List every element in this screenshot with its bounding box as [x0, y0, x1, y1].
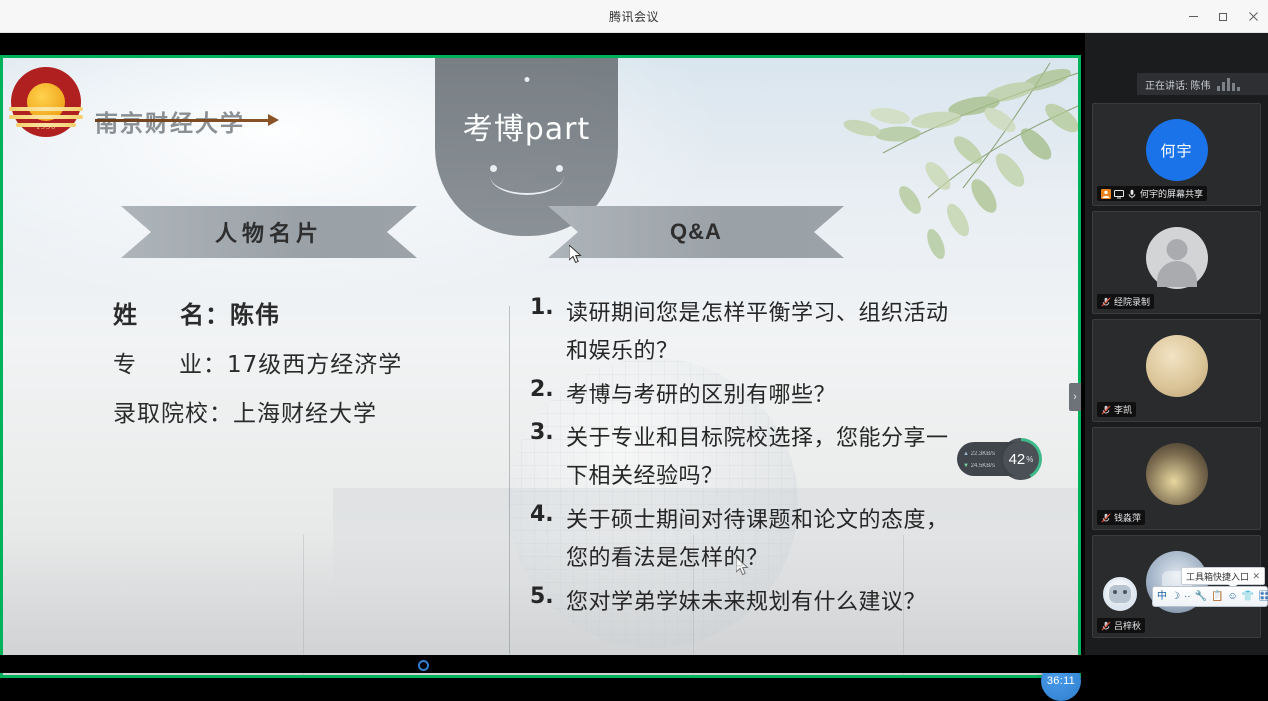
window-title-bar: 腾讯会议	[0, 0, 1268, 33]
profile-value: 17级西方经济学	[227, 345, 402, 379]
profile-label-2: 业：	[179, 345, 227, 379]
ime-fullwidth-icon[interactable]: ··	[1184, 592, 1191, 602]
ime-tooltip-text: 工具箱快捷入口	[1186, 570, 1249, 583]
timer-value: 36:11	[1047, 675, 1075, 687]
profile-label: 姓	[113, 295, 138, 330]
participant-name: 吕梓秋	[1114, 619, 1141, 632]
mic-muted-icon	[1101, 297, 1111, 307]
logo-year: 1956	[11, 122, 81, 131]
download-unit: KB/s	[982, 463, 995, 469]
participant-namebar: 吕梓秋	[1097, 618, 1145, 633]
cpu-usage-inner: 42 %	[1003, 441, 1039, 477]
participant-name: 何宇的屏幕共享	[1140, 187, 1203, 200]
ime-logo-icon[interactable]	[1103, 577, 1137, 611]
ime-toolbar[interactable]: 中 ☽ ·· 🔧 📋 ☺ 👕 🎛 🔒	[1152, 586, 1268, 607]
upload-value: 22.3	[971, 451, 983, 457]
screen-share-icon	[1114, 189, 1124, 199]
logo-wave	[9, 115, 83, 119]
avatar: 何宇	[1146, 119, 1208, 181]
close-icon	[1248, 11, 1259, 22]
mic-muted-icon	[1101, 621, 1111, 631]
profile-row-major: 专 业： 17级西方经济学	[113, 345, 503, 379]
smile-eye-left	[490, 165, 497, 172]
participant-name: 李凯	[1114, 403, 1132, 416]
profile-label-2: 名：	[180, 295, 230, 330]
arrow-icon	[95, 119, 270, 122]
question-text: 您对学弟学妹未来规划有什么建议？	[566, 584, 926, 622]
shared-screen-frame: 1956 南京财经大学 考博part	[0, 55, 1081, 678]
smile-icon	[490, 157, 564, 195]
ime-tooltip: 工具箱快捷入口 ✕	[1181, 567, 1265, 585]
ime-clipboard-icon[interactable]: 📋	[1211, 592, 1223, 602]
ime-face-icon	[1109, 585, 1131, 603]
question-number: 5.	[530, 584, 566, 622]
presentation-slide: 1956 南京财经大学 考博part	[3, 58, 1078, 675]
ime-toolbox-icon[interactable]: 🎛	[1258, 592, 1268, 602]
mic-muted-icon	[1101, 405, 1111, 415]
network-speed-lines: 22.3KB/s 24.5KB/s	[963, 447, 995, 470]
vertical-divider	[509, 306, 510, 654]
download-speed: 24.5KB/s	[963, 459, 995, 471]
question-item: 5. 您对学弟学妹未来规划有什么建议？	[530, 584, 960, 622]
avatar	[1146, 335, 1208, 397]
avatar	[1146, 227, 1208, 289]
cpu-usage-ring[interactable]: 42 %	[1000, 438, 1042, 480]
participant-namebar: 何宇的屏幕共享	[1097, 186, 1207, 201]
upload-speed: 22.3KB/s	[963, 447, 995, 459]
active-speaker-label: 正在讲话: 陈伟	[1145, 77, 1211, 92]
close-button[interactable]	[1238, 0, 1268, 33]
participant-namebar: 李凯	[1097, 402, 1136, 417]
question-number: 4.	[530, 502, 566, 578]
ground-line	[303, 535, 304, 675]
participant-name: 经院录制	[1114, 295, 1150, 308]
participant-tile[interactable]: 经院录制	[1092, 211, 1261, 314]
upload-unit: KB/s	[982, 451, 995, 457]
ribbon-qa: Q&A	[548, 206, 844, 258]
profile-block: 姓 名： 陈伟 专 业： 17级西方经济学 录取院校： 上海财经大学	[113, 295, 503, 443]
question-text: 读研期间您是怎样平衡学习、组织活动和娱乐的？	[566, 295, 960, 371]
audio-level-icon	[1217, 78, 1240, 91]
participant-namebar: 钱淼萍	[1097, 510, 1145, 525]
mic-muted-icon	[1101, 513, 1111, 523]
download-value: 24.5	[971, 463, 983, 469]
mic-icon	[1127, 189, 1137, 199]
cpu-value: 42	[1009, 451, 1026, 468]
ime-chinese-mode-icon[interactable]: 中	[1157, 592, 1167, 602]
question-text: 关于专业和目标院校选择，您能分享一下相关经验吗？	[566, 420, 960, 496]
chevron-right-icon: ›	[1073, 391, 1077, 403]
profile-row-school: 录取院校： 上海财经大学	[113, 394, 503, 428]
question-item: 2. 考博与考研的区别有哪些？	[530, 377, 960, 415]
university-logo: 1956	[11, 67, 81, 137]
question-list: 1. 读研期间您是怎样平衡学习、组织活动和娱乐的？ 2. 考博与考研的区别有哪些…	[530, 295, 960, 628]
ime-emoji-icon[interactable]: ☺	[1228, 592, 1238, 602]
question-number: 3.	[530, 420, 566, 496]
minimize-button[interactable]	[1178, 0, 1208, 33]
question-number: 1.	[530, 295, 566, 371]
balloon-dot	[524, 77, 529, 82]
smile-eye-right	[556, 165, 563, 172]
avatar	[1146, 443, 1208, 505]
profile-row-name: 姓 名： 陈伟	[113, 295, 503, 330]
loading-indicator-icon	[418, 660, 429, 671]
active-speaker-banner: 正在讲话: 陈伟	[1137, 73, 1268, 95]
restore-icon	[1218, 11, 1229, 22]
ribbon-left-label: 人物名片	[215, 216, 323, 248]
question-item: 4. 关于硕士期间对待课题和论文的态度，您的看法是怎样的？	[530, 502, 960, 578]
question-text: 考博与考研的区别有哪些？	[566, 377, 836, 415]
participant-tile[interactable]: 钱淼萍	[1092, 427, 1261, 530]
ime-tooltip-close-icon[interactable]: ✕	[1252, 571, 1260, 582]
participant-name: 钱淼萍	[1114, 511, 1141, 524]
ime-skin-icon[interactable]: 👕	[1242, 592, 1254, 602]
ime-wrench-icon[interactable]: 🔧	[1195, 592, 1207, 602]
cpu-unit: %	[1026, 455, 1033, 464]
participant-tile[interactable]: 李凯	[1092, 319, 1261, 422]
restore-button[interactable]	[1208, 0, 1238, 33]
profile-value: 陈伟	[230, 295, 280, 330]
profile-value: 上海财经大学	[233, 394, 377, 428]
panel-collapse-handle[interactable]: ›	[1069, 383, 1081, 411]
avatar-initials: 何宇	[1160, 140, 1192, 161]
participant-namebar: 经院录制	[1097, 294, 1154, 309]
slide-main-title: 考博part	[435, 104, 618, 148]
logo-wave	[9, 107, 83, 111]
profile-label: 录取院校：	[113, 394, 233, 428]
window-controls	[1178, 0, 1268, 33]
question-number: 2.	[530, 377, 566, 415]
meeting-stage: 1956 南京财经大学 考博part	[0, 33, 1268, 673]
host-icon	[1101, 189, 1111, 199]
window-title: 腾讯会议	[609, 8, 659, 25]
question-item: 3. 关于专业和目标院校选择，您能分享一下相关经验吗？	[530, 420, 960, 496]
minimize-icon	[1188, 11, 1199, 22]
profile-label: 专	[113, 345, 137, 379]
taskbar-strip	[0, 655, 1268, 673]
ribbon-person-card: 人物名片	[121, 206, 417, 258]
participant-tile[interactable]: 何宇 何宇的屏幕共享	[1092, 103, 1261, 206]
question-text: 关于硕士期间对待课题和论文的态度，您的看法是怎样的？	[566, 502, 960, 578]
ribbon-right-label: Q&A	[670, 219, 722, 245]
ime-moon-icon[interactable]: ☽	[1171, 592, 1180, 602]
question-item: 1. 读研期间您是怎样平衡学习、组织活动和娱乐的？	[530, 295, 960, 371]
